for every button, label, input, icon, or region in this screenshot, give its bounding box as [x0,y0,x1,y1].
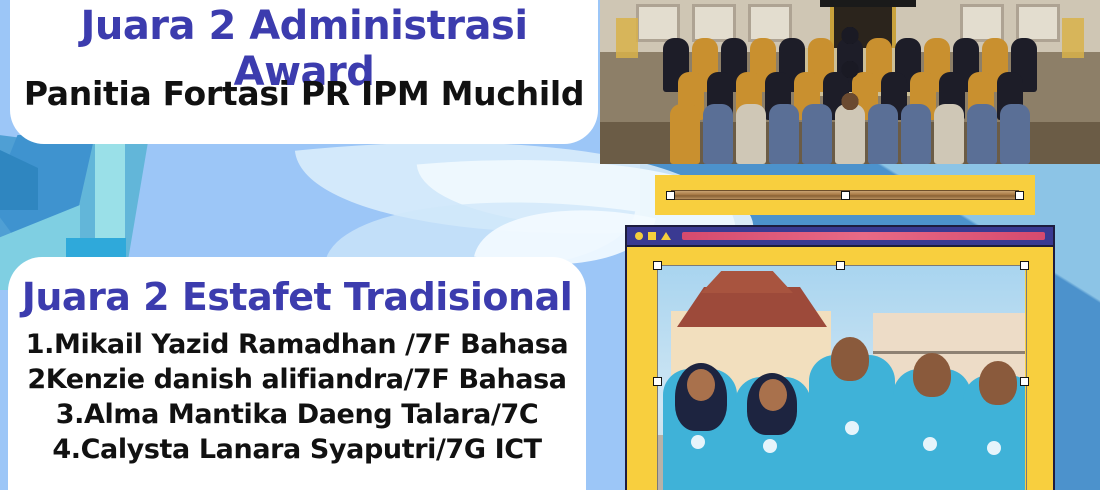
photo-person [802,104,832,164]
photo-window [636,4,680,42]
circle-icon[interactable] [635,232,643,240]
window-titlebar[interactable] [625,225,1055,247]
photo-person [967,104,997,164]
photo-person-head [842,61,859,78]
list-item: 2Kenzie danish alifiandra/7F Bahasa [8,362,586,397]
selection-handle[interactable] [666,191,675,200]
titlebar-bar[interactable] [682,232,1045,240]
list-item: 4.Calysta Lanara Syaputri/7G ICT [8,432,586,467]
top-group-photo [600,0,1100,164]
award-card-top: Juara 2 Administrasi Award Panitia Forta… [10,0,598,144]
selection-handle[interactable] [1015,191,1024,200]
selection-handle[interactable] [1020,377,1029,386]
image-selection-box [657,265,1027,490]
selection-handle[interactable] [653,377,662,386]
selection-handle[interactable] [653,261,662,270]
photo-person [670,104,700,164]
list-item: 3.Alma Mantika Daeng Talara/7C [8,397,586,432]
photo-person [1000,104,1030,164]
photo-person [769,104,799,164]
photo-person [934,104,964,164]
photo-person [835,104,865,164]
winner-name-list: 1.Mikail Yazid Ramadhan /7F Bahasa 2Kenz… [8,327,586,467]
photo-person [868,104,898,164]
award-subtitle: Panitia Fortasi PR IPM Muchild [10,74,598,113]
photo-window [748,4,792,42]
photo-person [901,104,931,164]
award-card-bottom: Juara 2 Estafet Tradisional 1.Mikail Yaz… [8,257,586,490]
square-icon[interactable] [648,232,656,240]
selection-handle[interactable] [841,191,850,200]
photo-person-head [842,27,859,44]
photo-window [692,4,736,42]
photo-window [1016,4,1060,42]
award-title-estafet: Juara 2 Estafet Tradisional [8,275,586,319]
photo-people-row-front [600,104,1100,164]
window-body [625,247,1055,490]
photo-person [736,104,766,164]
triangle-icon[interactable] [661,232,671,240]
photo-person [703,104,733,164]
list-item: 1.Mikail Yazid Ramadhan /7F Bahasa [8,327,586,362]
photo-signboard [820,0,916,7]
retro-window[interactable] [625,225,1055,490]
photo-window [960,4,1004,42]
photo-person-head [842,93,859,110]
poster-canvas: Juara 2 Administrasi Award Panitia Forta… [0,0,1100,490]
selection-handle[interactable] [1020,261,1029,270]
wood-strip-panel [655,175,1035,215]
selection-handle[interactable] [836,261,845,270]
